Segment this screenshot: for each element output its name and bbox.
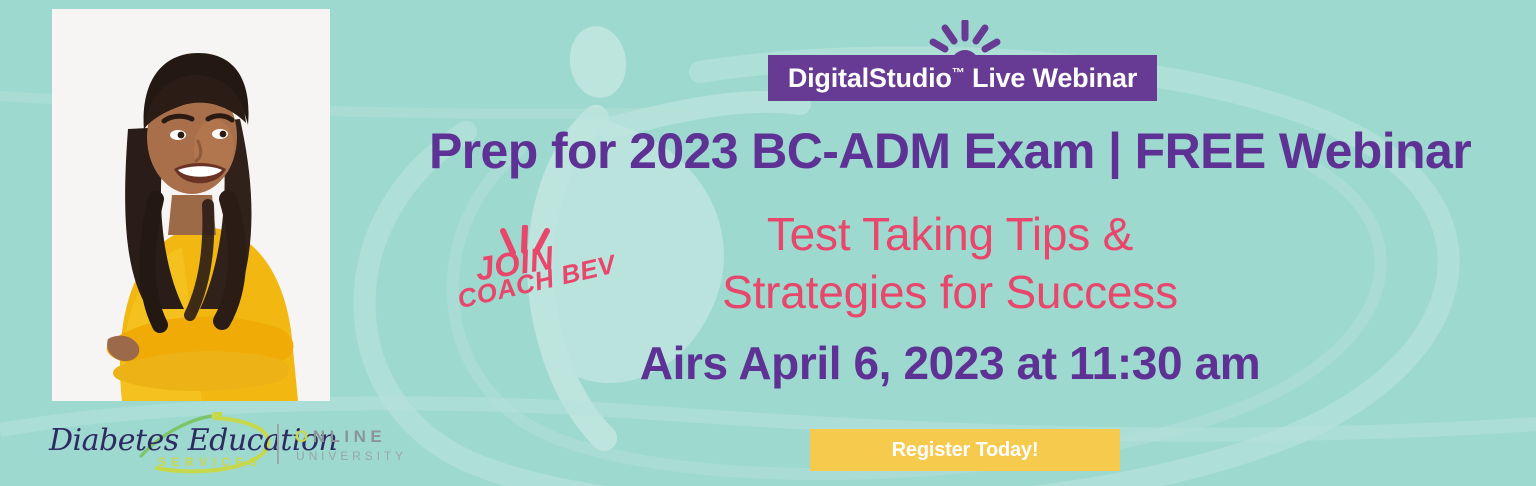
page-title: Prep for 2023 BC-ADM Exam | FREE Webinar xyxy=(400,126,1500,176)
presenter-photo-art xyxy=(52,9,330,401)
subtitle: Test Taking Tips & Strategies for Succes… xyxy=(530,205,1370,322)
badge-suffix: Live Webinar xyxy=(965,63,1137,93)
webinar-promo-banner: DigitalStudio™ Live Webinar Prep for 202… xyxy=(0,0,1536,486)
presenter-photo xyxy=(52,9,330,401)
logo-divider xyxy=(277,424,279,464)
logo-university-text: UNIVERSITY xyxy=(296,450,407,462)
logo-online-text: ONLINE xyxy=(295,428,386,445)
badge-label: DigitalStudio™ Live Webinar xyxy=(788,65,1137,92)
join-coach-bev-callout: JOIN COACH BEV xyxy=(455,225,645,340)
logo-online-rest: NLINE xyxy=(313,427,387,446)
subtitle-line-1: Test Taking Tips & xyxy=(530,205,1370,263)
live-webinar-badge: DigitalStudio™ Live Webinar xyxy=(768,55,1157,101)
badge-brand: DigitalStudio xyxy=(788,63,952,93)
logo-services-text: SERVICES xyxy=(158,456,262,468)
register-today-button[interactable]: Register Today! xyxy=(810,429,1120,471)
air-date-text: Airs April 6, 2023 at 11:30 am xyxy=(430,340,1470,386)
logo-online-o: O xyxy=(295,427,313,446)
subtitle-line-2: Strategies for Success xyxy=(530,263,1370,321)
trademark-symbol: ™ xyxy=(952,65,965,80)
diabetes-education-services-logo[interactable]: Diabetes Education SERVICES ONLINE UNIVE… xyxy=(45,412,385,478)
